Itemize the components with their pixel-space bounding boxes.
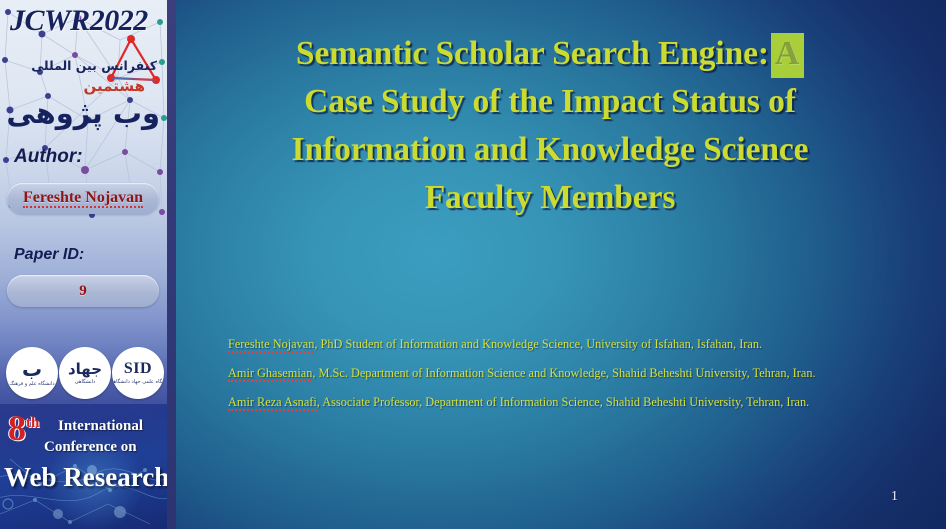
conference-ordinal: 8th (8, 410, 39, 446)
author-affiliation-line: Amir Ghasemian, M.Sc. Department of Info… (228, 365, 850, 381)
org-logo-glyph-2: جهاد (68, 362, 102, 377)
sidebar-author-label: Author: (14, 146, 83, 168)
author-affiliation-1: , PhD Student of Information and Knowled… (314, 337, 762, 351)
author-affiliation-2: , M.Sc. Department of Information Scienc… (312, 366, 815, 380)
organization-logos: ب دانشگاه علم و فرهنگ جهاد دانشگاهى SID … (6, 345, 164, 401)
farsi-web-research-label: وب پژوهى (8, 96, 160, 130)
author-name-1: Fereshte Nojavan (228, 337, 314, 353)
jahad-daneshgahi-logo-icon: جهاد دانشگاهى (59, 347, 111, 399)
jcwr-logo-text: JCWR2022 (10, 4, 160, 38)
sidebar-author-pill[interactable]: Fereshte Nojavan (7, 183, 159, 214)
farsi-international-conference-label: كنفرانس بين المللى (31, 58, 157, 73)
conference-line-web-research: Web Research (4, 462, 167, 493)
title-line-4-text: Faculty Members (425, 179, 676, 216)
title-line-1-text: Semantic Scholar Search Engine: (296, 35, 769, 72)
title-line-2-text: Case Study of the Impact Status of (304, 83, 796, 120)
conference-ordinal-number: 8 (8, 408, 26, 448)
author-affiliation-line: Fereshte Nojavan, PhD Student of Informa… (228, 336, 850, 352)
org-logo-sub-1: دانشگاه علم و فرهنگ (9, 381, 54, 387)
title-line-3-text: Information and Knowledge Science (292, 131, 809, 168)
org-logo-glyph-3: SID (124, 361, 152, 377)
university-logo-icon: ب دانشگاه علم و فرهنگ (6, 347, 58, 399)
slide-title[interactable]: Semantic Scholar Search Engine:A Case St… (205, 30, 895, 222)
title-selected-character[interactable]: A (771, 33, 804, 78)
sidebar-paper-id-label: Paper ID: (14, 246, 84, 264)
sidebar-author-name: Fereshte Nojavan (23, 189, 143, 209)
author-affiliation-line: Amir Reza Asnafi, Associate Professor, D… (228, 394, 850, 410)
farsi-eighth-label: هشتمين (84, 77, 145, 95)
author-affiliations-block[interactable]: Fereshte Nojavan, PhD Student of Informa… (228, 336, 850, 411)
sidebar-paper-id-pill[interactable]: 9 (7, 275, 159, 307)
org-logo-sub-2: دانشگاهى (75, 379, 96, 385)
sidebar-paper-id-value: 9 (79, 283, 87, 300)
org-logo-glyph-1: ب (22, 359, 42, 379)
conference-ordinal-suffix: th (26, 415, 39, 431)
org-logo-sub-3: پايگاه علمى جهاد دانشگاهى (112, 379, 164, 385)
conference-line-conference-on: Conference on (44, 439, 137, 456)
presentation-slide: Semantic Scholar Search Engine:A Case St… (0, 0, 946, 529)
conference-banner: 8th International Conference on Web Rese… (0, 404, 167, 529)
author-name-2: Amir Ghasemian (228, 366, 312, 382)
sid-logo-icon: SID پايگاه علمى جهاد دانشگاهى (112, 347, 164, 399)
author-name-3: Amir Reza Asnafi (228, 395, 317, 411)
slide-page-number: 1 (891, 489, 898, 505)
conference-line-international: International (58, 418, 143, 435)
conference-sidebar: JCWR2022 كنفرانس بين المللى هشتمين وب پژ… (0, 0, 167, 529)
author-affiliation-3: , Associate Professor, Department of Inf… (317, 395, 809, 409)
sidebar-divider (167, 0, 176, 529)
